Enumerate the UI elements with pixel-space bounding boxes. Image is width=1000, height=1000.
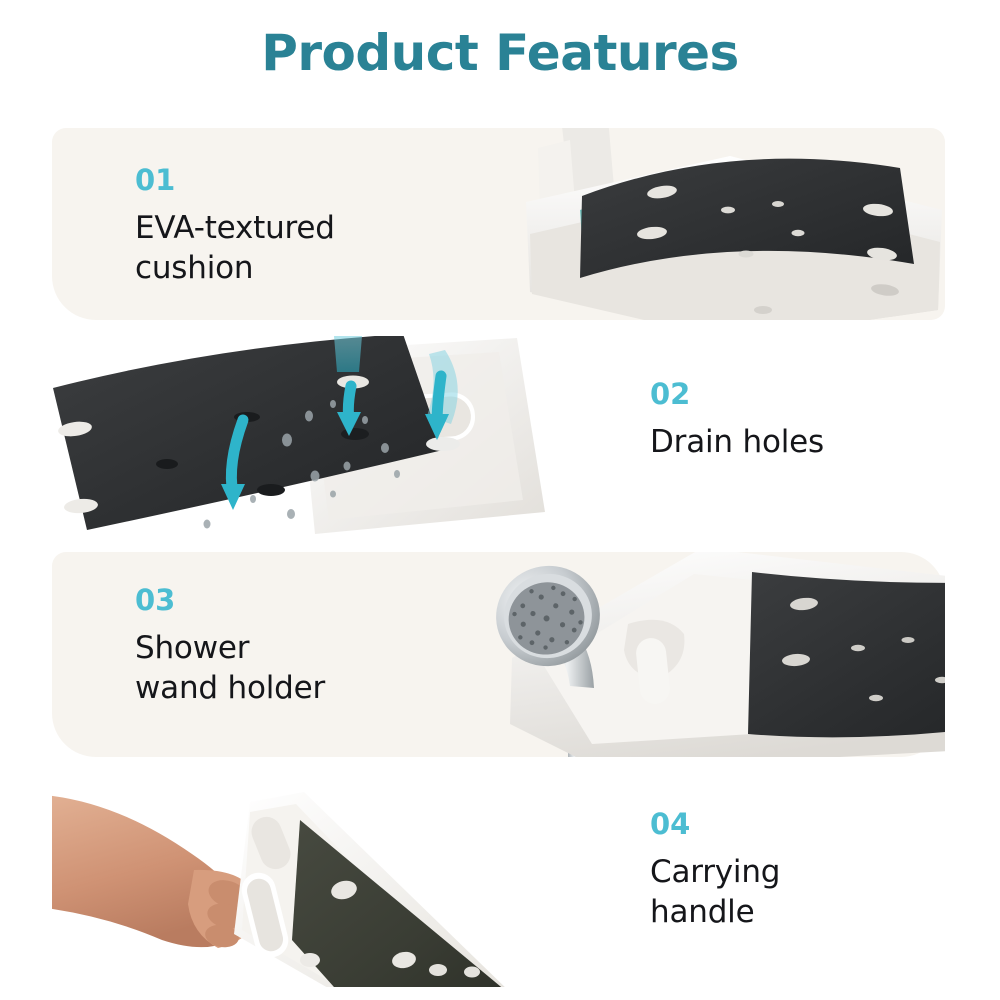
- feature-03-number: 03: [135, 586, 325, 615]
- feature-02-number: 02: [650, 380, 824, 409]
- feature-04-text: 04 Carrying handle: [650, 810, 780, 933]
- feature-04-label: Carrying handle: [650, 852, 780, 933]
- feature-card-04: 04 Carrying handle: [52, 772, 945, 987]
- product-features-infographic: Product Features: [0, 0, 1000, 1000]
- feature-02-text: 02 Drain holes: [650, 380, 824, 462]
- feature-03-text: 03 Shower wand holder: [135, 586, 325, 709]
- feature-04-number: 04: [650, 810, 780, 839]
- feature-01-label: EVA-textured cushion: [135, 208, 335, 289]
- feature-01-number: 01: [135, 166, 335, 195]
- page-title: Product Features: [0, 24, 1000, 82]
- feature-card-03: 03 Shower wand holder: [52, 552, 945, 757]
- feature-card-04-background: [52, 772, 945, 987]
- feature-card-01: 01 EVA-textured cushion: [52, 128, 945, 320]
- feature-01-text: 01 EVA-textured cushion: [135, 166, 335, 289]
- feature-02-label: Drain holes: [650, 422, 824, 462]
- feature-card-02: 02 Drain holes: [52, 336, 945, 536]
- feature-03-label: Shower wand holder: [135, 628, 325, 709]
